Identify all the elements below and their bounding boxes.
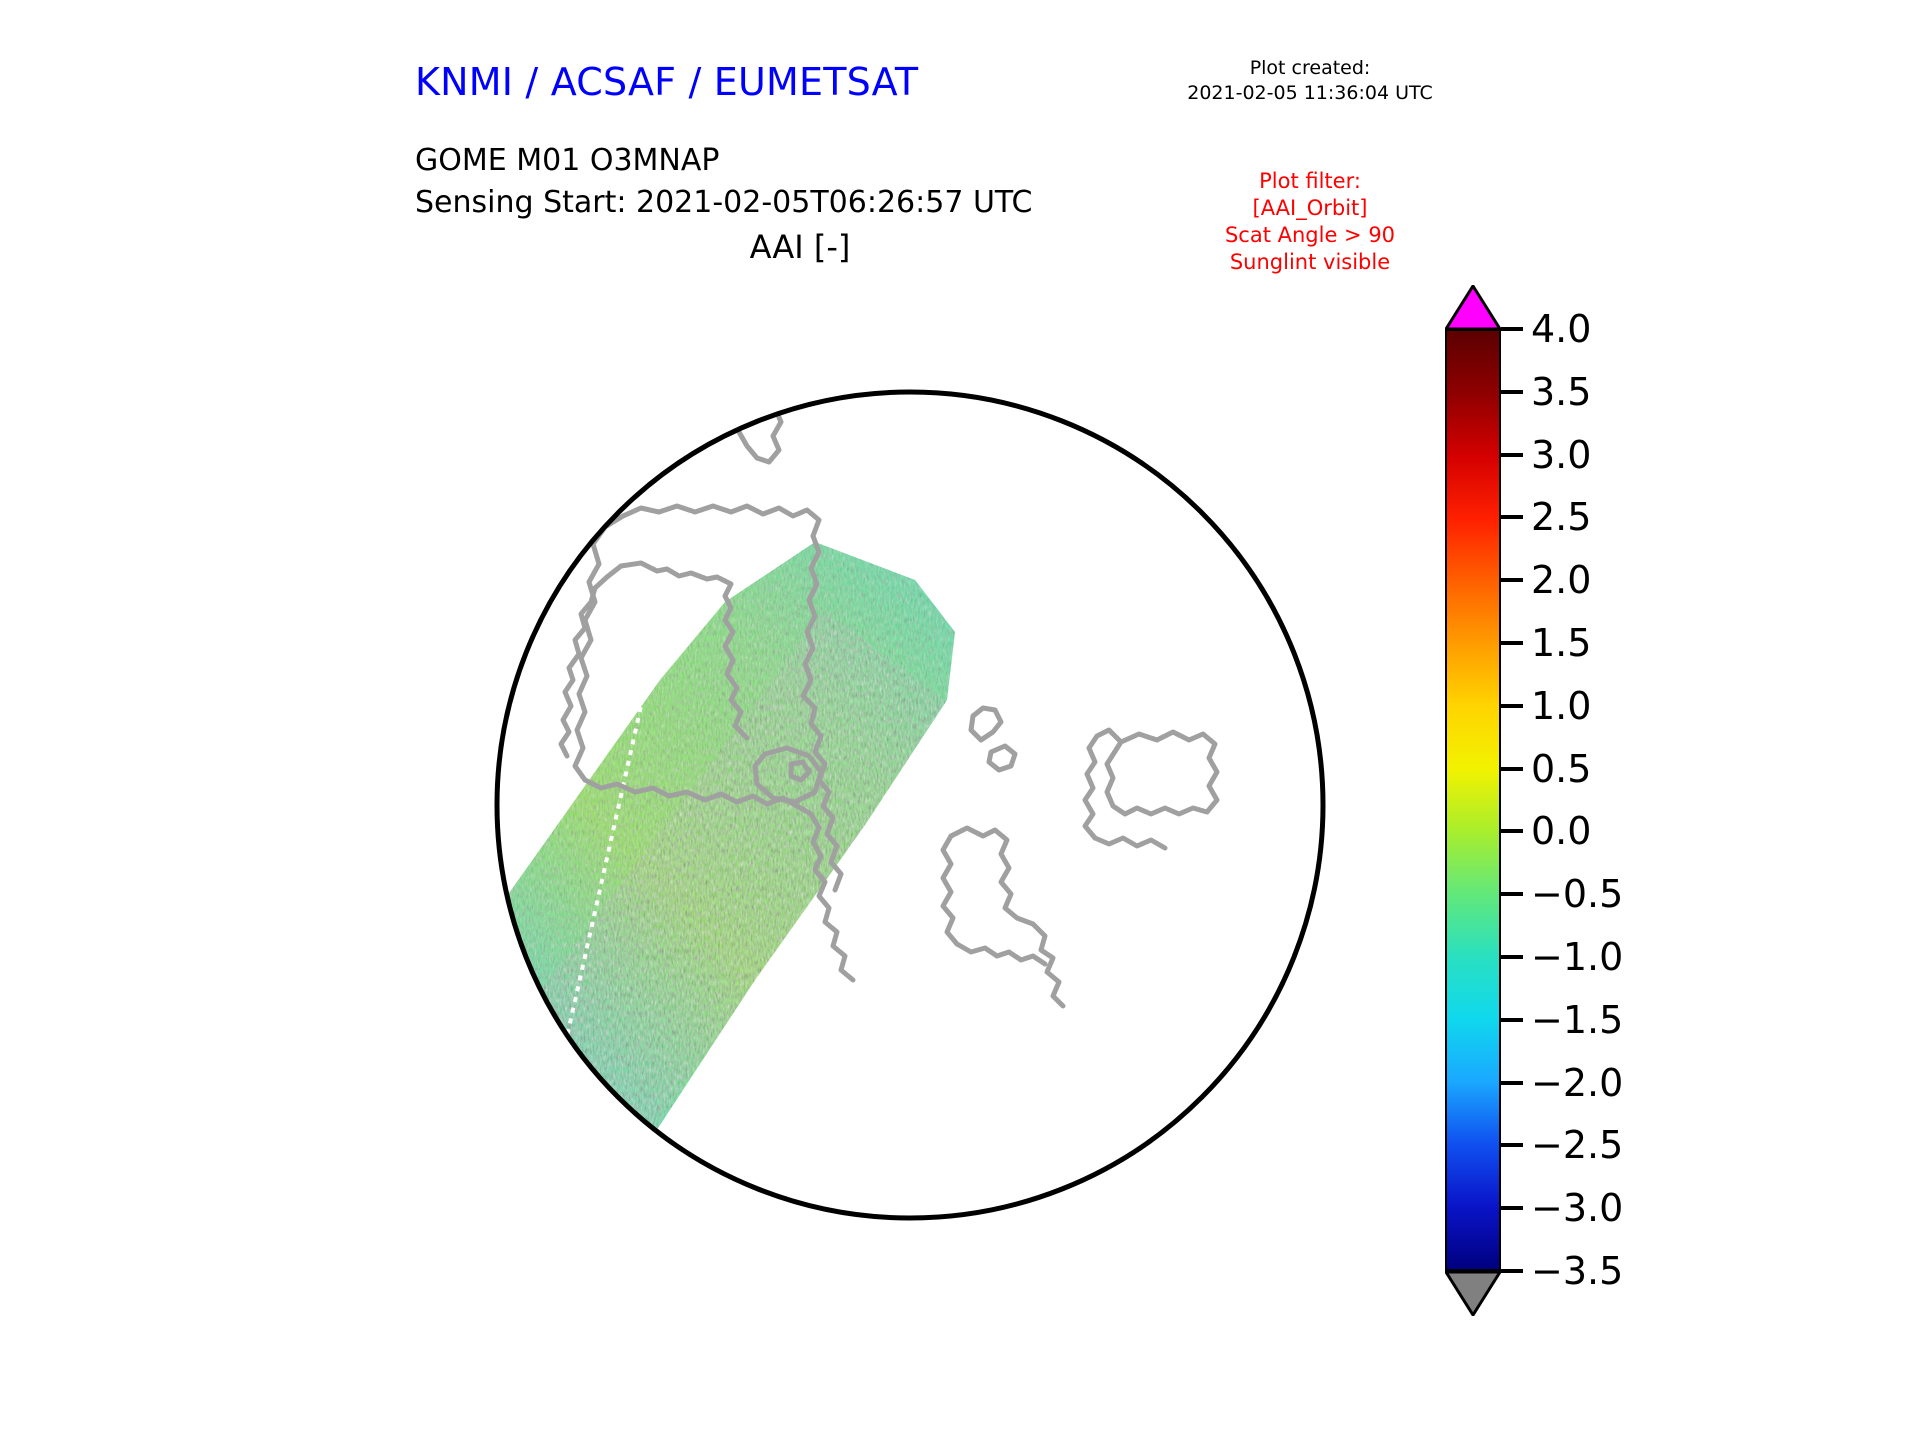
colorbar[interactable]: 4.03.53.02.52.01.51.00.50.0−0.5−1.0−1.5−… [1445, 280, 1865, 1325]
colorbar-over-arrow-outline [1445, 285, 1501, 330]
colorbar-tick [1501, 704, 1523, 708]
colorbar-tick [1501, 1143, 1523, 1147]
colorbar-tick [1501, 327, 1523, 331]
colorbar-tick [1501, 829, 1523, 833]
colorbar-tick [1501, 641, 1523, 645]
colorbar-tick-label: 3.0 [1531, 436, 1591, 474]
colorbar-tick [1501, 1269, 1523, 1273]
colorbar-tick-label: 1.0 [1531, 687, 1591, 725]
plot-filter-note: Sunglint visible [1160, 249, 1460, 276]
colorbar-tick-label: 0.0 [1531, 812, 1591, 850]
map-panel [395, 280, 1425, 1325]
plot-filter-condition: Scat Angle > 90 [1160, 222, 1460, 249]
colorbar-tick-label: −3.0 [1531, 1189, 1623, 1227]
colorbar-tick-label: −3.5 [1531, 1252, 1623, 1290]
polar-map [395, 280, 1425, 1325]
colorbar-tick-label: 2.0 [1531, 561, 1591, 599]
dataset-info: GOME M01 O3MNAP Sensing Start: 2021-02-0… [415, 140, 1032, 224]
colorbar-under-arrow-outline [1445, 1270, 1501, 1316]
colorbar-tick [1501, 892, 1523, 896]
colorbar-gradient [1445, 329, 1501, 1271]
plot-created-timestamp: 2021-02-05 11:36:04 UTC [1165, 81, 1455, 106]
colorbar-tick-label: −2.0 [1531, 1064, 1623, 1102]
colorbar-tick [1501, 1081, 1523, 1085]
colorbar-tick [1501, 578, 1523, 582]
colorbar-tick-label: −2.5 [1531, 1126, 1623, 1164]
colorbar-tick [1501, 390, 1523, 394]
colorbar-tick [1501, 955, 1523, 959]
colorbar-tick [1501, 453, 1523, 457]
plot-created-label: Plot created: [1165, 56, 1455, 81]
colorbar-tick [1501, 1206, 1523, 1210]
colorbar-tick-label: 2.5 [1531, 498, 1591, 536]
colorbar-tick-label: 4.0 [1531, 310, 1591, 348]
colorbar-tick [1501, 515, 1523, 519]
instrument-line: GOME M01 O3MNAP [415, 140, 1032, 182]
plot-filter-name: [AAI_Orbit] [1160, 195, 1460, 222]
colorbar-tick-label: −1.0 [1531, 938, 1623, 976]
colorbar-tick-label: 3.5 [1531, 373, 1591, 411]
sensing-start-line: Sensing Start: 2021-02-05T06:26:57 UTC [415, 182, 1032, 224]
colorbar-tick-label: 1.5 [1531, 624, 1591, 662]
plot-created-block: Plot created: 2021-02-05 11:36:04 UTC [1165, 56, 1455, 106]
plot-filter-block: Plot filter: [AAI_Orbit] Scat Angle > 90… [1160, 168, 1460, 276]
colorbar-tick-label: −0.5 [1531, 875, 1623, 913]
colorbar-tick-label: 0.5 [1531, 750, 1591, 788]
organisation-title: KNMI / ACSAF / EUMETSAT [415, 60, 918, 104]
plot-filter-label: Plot filter: [1160, 168, 1460, 195]
quantity-title: AAI [-] [600, 228, 1000, 266]
colorbar-tick [1501, 767, 1523, 771]
colorbar-tick [1501, 1018, 1523, 1022]
colorbar-tick-label: −1.5 [1531, 1001, 1623, 1039]
